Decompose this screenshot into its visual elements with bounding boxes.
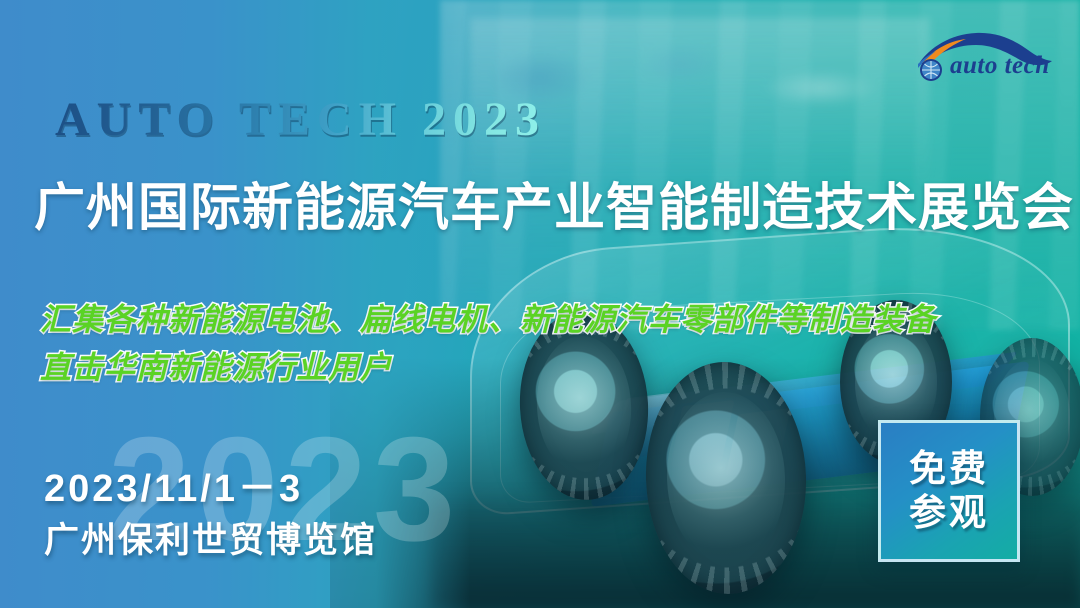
tire-tread [642, 359, 810, 596]
subtitle-line-2: 直击华南新能源行业用户 [40, 342, 392, 387]
event-date: 2023/11/1－3 [44, 457, 303, 512]
event-promo-banner: 2023 auto tech AUTO TECH 2023 广州国际新能源汽车产… [0, 0, 1080, 608]
english-title: AUTO TECH 2023 [55, 92, 546, 147]
logo-wordmark: auto tech [950, 52, 1050, 80]
badge-line-2: 参观 [909, 491, 989, 535]
battery-cell [670, 400, 735, 468]
battery-cell [614, 392, 679, 460]
free-admission-badge[interactable]: 免费 参观 [878, 420, 1020, 562]
badge-line-1: 免费 [909, 447, 989, 491]
event-venue: 广州保利世贸博览馆 [44, 512, 377, 563]
auto-tech-logo[interactable]: auto tech [906, 22, 1058, 86]
page-title: 广州国际新能源汽车产业智能制造技术展览会 [34, 166, 1074, 240]
ev-wheel-rear-left [642, 359, 810, 596]
subtitle-line-1: 汇集各种新能源电池、扁线电机、新能源汽车零部件等制造装备 [40, 294, 936, 339]
battery-cell [726, 408, 791, 476]
